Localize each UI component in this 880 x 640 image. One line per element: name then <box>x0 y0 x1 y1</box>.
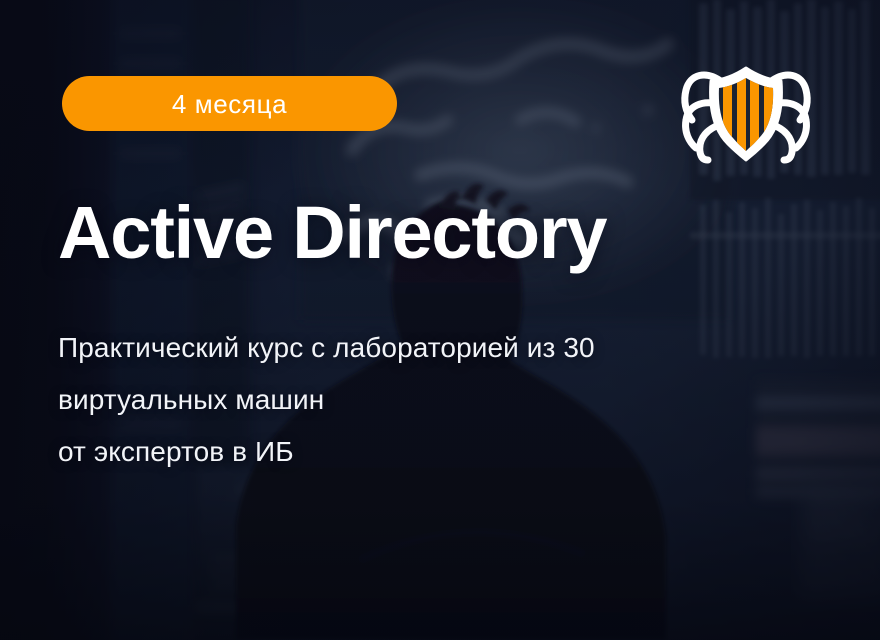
banner-content: 4 месяца Active Directory Практический к… <box>0 0 880 640</box>
spider-shield-logo-icon <box>678 56 814 164</box>
course-subtitle: Практический курс с лабораторией из 30 в… <box>58 322 818 478</box>
course-title: Active Directory <box>58 196 606 270</box>
duration-badge-label: 4 месяца <box>172 91 287 117</box>
duration-badge[interactable]: 4 месяца <box>62 76 397 131</box>
subtitle-line-3: от экспертов в ИБ <box>58 426 818 478</box>
subtitle-line-1: Практический курс с лабораторией из 30 <box>58 322 818 374</box>
course-promo-banner: 4 месяца Active Directory Практический к… <box>0 0 880 640</box>
subtitle-line-2: виртуальных машин <box>58 374 818 426</box>
